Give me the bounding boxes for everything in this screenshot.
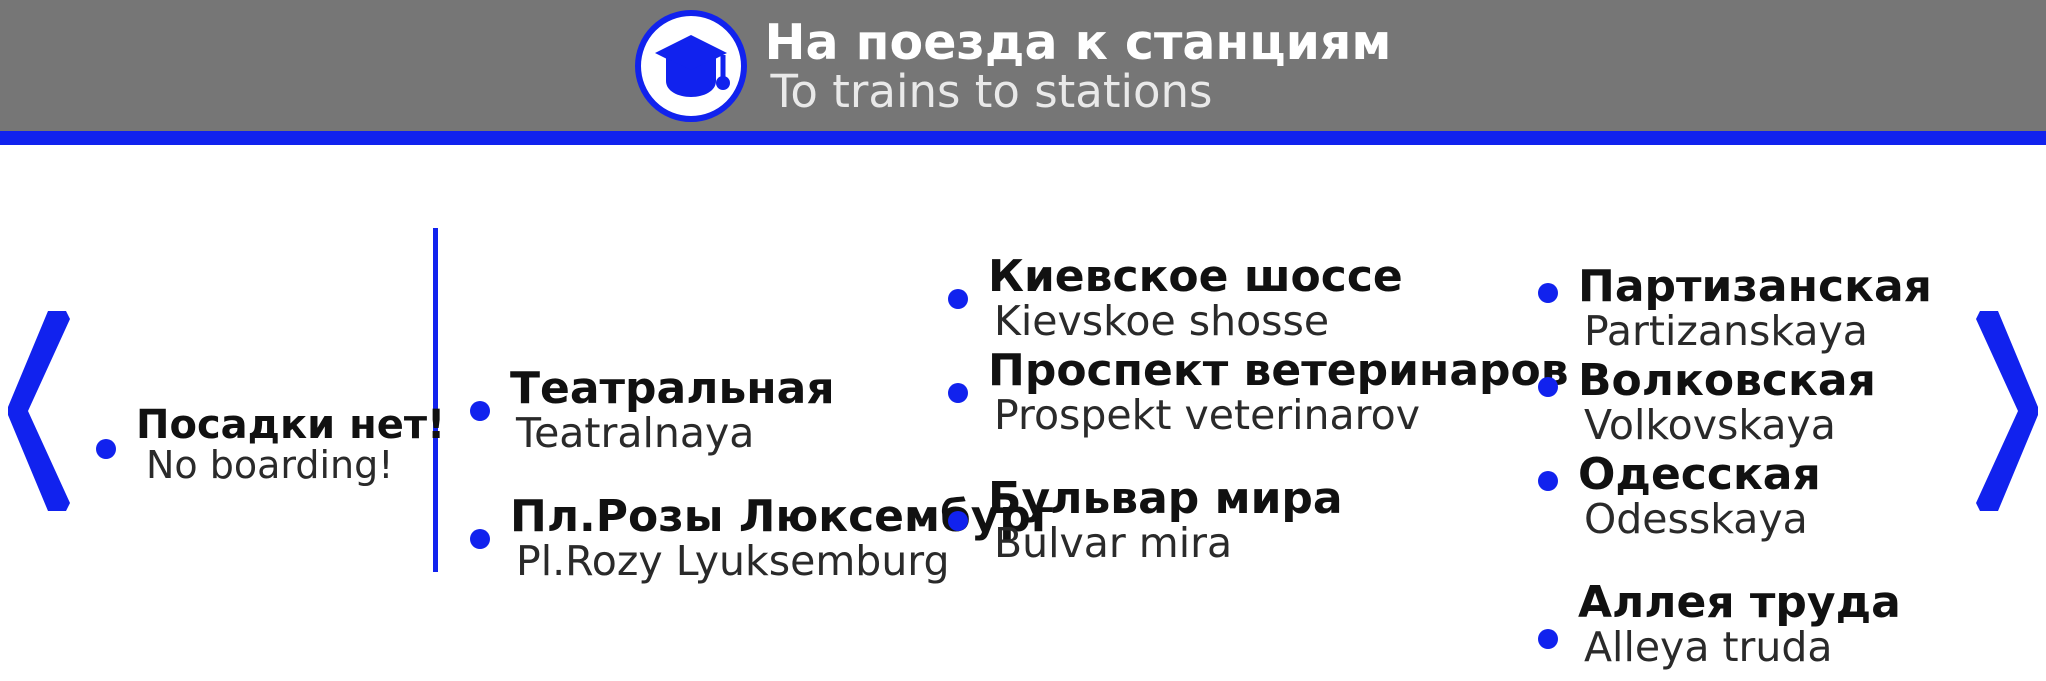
station-entry: Волковская Volkovskaya [1530,359,1960,447]
station-name-ru: Проспект ветеринаров [988,349,1460,394]
station-name-ru: Бульвар мира [988,477,1460,522]
station-entry: Бульвар мира Bulvar mira [940,477,1460,565]
station-column-1: Театральная Teatralnaya Пл.Розы Люксембу… [462,367,782,595]
station-name-ru: Театральная [510,367,782,412]
bullet-icon [948,511,968,531]
notice-label-ru: Посадки нет! [136,405,418,446]
station-name-ru: Киевское шоссе [988,255,1460,300]
notice-entry: Посадки нет! No boarding! [88,405,418,486]
station-name-ru: Одесская [1578,453,1960,498]
bullet-icon [948,289,968,309]
station-name-en: Prospekt veterinarov [994,394,1460,437]
station-name-en: Bulvar mira [994,522,1460,565]
chevron-right-icon [1976,311,2038,511]
bullet-icon [948,383,968,403]
bullet-icon [1538,629,1558,649]
station-name-en: Odesskaya [1584,498,1960,541]
station-name-en: Teatralnaya [516,412,782,455]
chevron-left-icon [8,311,70,511]
station-name-ru: Волковская [1578,359,1960,404]
column-divider [433,228,438,572]
station-entry: Пл.Розы Люксембург Pl.Rozy Lyuksemburg [462,495,782,583]
station-name-ru: Партизанская [1578,265,1960,310]
bullet-icon [96,439,116,459]
bullet-icon [470,529,490,549]
station-column-2: Киевское шоссе Kievskoe shosse Проспект … [940,255,1460,577]
station-column-3: Партизанская Partizanskaya Волковская Vo… [1530,265,1960,681]
header-text-block: На поезда к станциям To trains to statio… [765,18,1392,114]
header-title-ru: На поезда к станциям [765,18,1392,67]
header-bar: На поезда к станциям To trains to statio… [0,0,2046,131]
bullet-icon [1538,377,1558,397]
bullet-icon [1538,471,1558,491]
station-name-en: Partizanskaya [1584,310,1960,353]
station-name-en: Alleya truda [1584,626,1960,669]
no-boarding-notice: Посадки нет! No boarding! [88,405,418,498]
station-name-en: Volkovskaya [1584,404,1960,447]
transit-direction-sign: На поезда к станциям To trains to statio… [0,0,2046,668]
bullet-icon [470,401,490,421]
station-name-ru: Аллея труда [1578,581,1960,626]
station-entry: Театральная Teatralnaya [462,367,782,455]
header-title-en: To trains to stations [771,69,1392,114]
station-entry: Проспект ветеринаров Prospekt veterinaro… [940,349,1460,437]
notice-label-en: No boarding! [146,446,418,486]
station-name-ru: Пл.Розы Люксембург [510,495,782,540]
station-entry: Одесская Odesskaya [1530,453,1960,541]
accent-stripe [0,131,2046,145]
sign-body: Посадки нет! No boarding! Театральная Te… [0,145,2046,668]
station-entry: Киевское шоссе Kievskoe shosse [940,255,1460,343]
station-entry: Партизанская Partizanskaya [1530,265,1960,353]
station-name-en: Kievskoe shosse [994,300,1460,343]
bullet-icon [1538,283,1558,303]
station-name-en: Pl.Rozy Lyuksemburg [516,540,782,583]
station-entry: Аллея труда Alleya truda [1530,581,1960,669]
graduation-cap-icon [635,10,747,122]
header-content: На поезда к станциям To trains to statio… [635,10,1392,122]
